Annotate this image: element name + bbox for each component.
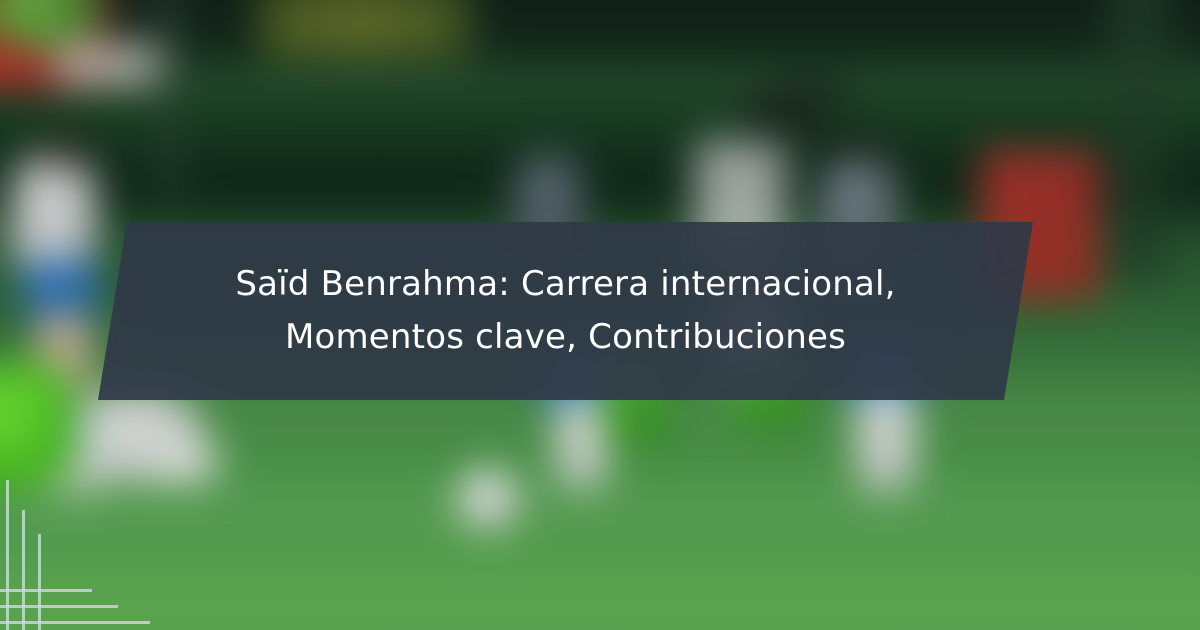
corner-decoration	[0, 470, 160, 630]
share-card: Saïd Benrahma: Carrera internacional, Mo…	[0, 0, 1200, 630]
decor-line-vertical	[38, 534, 41, 630]
decor-line-horizontal	[0, 621, 150, 624]
decor-line-vertical	[22, 510, 25, 630]
page-title: Saïd Benrahma: Carrera internacional, Mo…	[216, 258, 916, 363]
title-banner: Saïd Benrahma: Carrera internacional, Mo…	[98, 222, 1033, 400]
decor-line-horizontal	[0, 589, 92, 592]
decor-line-horizontal	[0, 605, 118, 608]
